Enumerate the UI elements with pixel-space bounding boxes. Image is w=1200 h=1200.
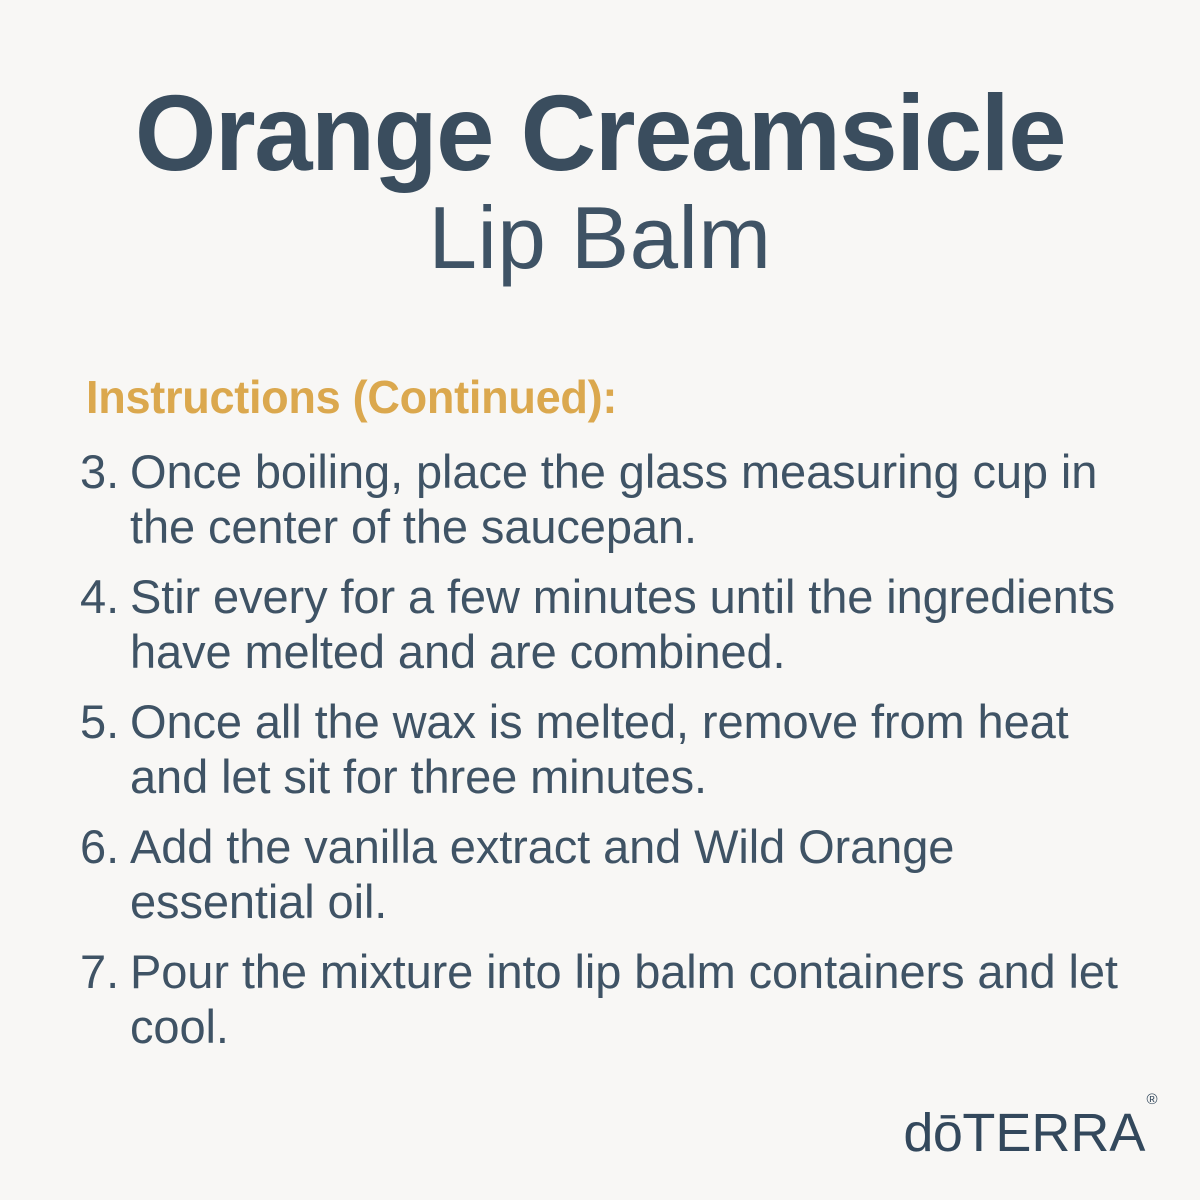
title-block: Orange Creamsicle Lip Balm: [0, 78, 1200, 285]
recipe-card: Orange Creamsicle Lip Balm Instructions …: [0, 0, 1200, 1200]
list-item: 4.Stir every for a few minutes until the…: [80, 569, 1140, 680]
step-number: 7.: [80, 944, 130, 999]
list-item: 5.Once all the wax is melted, remove fro…: [80, 694, 1140, 805]
page-title: Orange Creamsicle: [18, 78, 1182, 188]
step-number: 3.: [80, 444, 130, 499]
step-text: Once boiling, place the glass measuring …: [130, 444, 1140, 555]
list-item: 7.Pour the mixture into lip balm contain…: [80, 944, 1140, 1055]
brand-wordmark: dōTERRA®: [903, 1106, 1156, 1160]
page-subtitle: Lip Balm: [6, 192, 1194, 284]
step-number: 5.: [80, 694, 130, 749]
registered-trademark-icon: ®: [1146, 1091, 1157, 1108]
step-text: Stir every for a few minutes until the i…: [130, 569, 1140, 680]
brand-suffix: TERRA: [962, 1103, 1145, 1163]
step-text: Pour the mixture into lip balm container…: [130, 944, 1140, 1055]
brand-prefix: dō: [903, 1103, 962, 1163]
step-text: Add the vanilla extract and Wild Orange …: [130, 819, 1140, 930]
doterra-logo: dōTERRA®: [903, 1106, 1156, 1160]
step-text: Once all the wax is melted, remove from …: [130, 694, 1140, 805]
instructions-heading: Instructions (Continued):: [86, 372, 617, 423]
step-number: 4.: [80, 569, 130, 624]
list-item: 3.Once boiling, place the glass measurin…: [80, 444, 1140, 555]
step-number: 6.: [80, 819, 130, 874]
list-item: 6.Add the vanilla extract and Wild Orang…: [80, 819, 1140, 930]
instructions-list: 3.Once boiling, place the glass measurin…: [80, 444, 1140, 1069]
